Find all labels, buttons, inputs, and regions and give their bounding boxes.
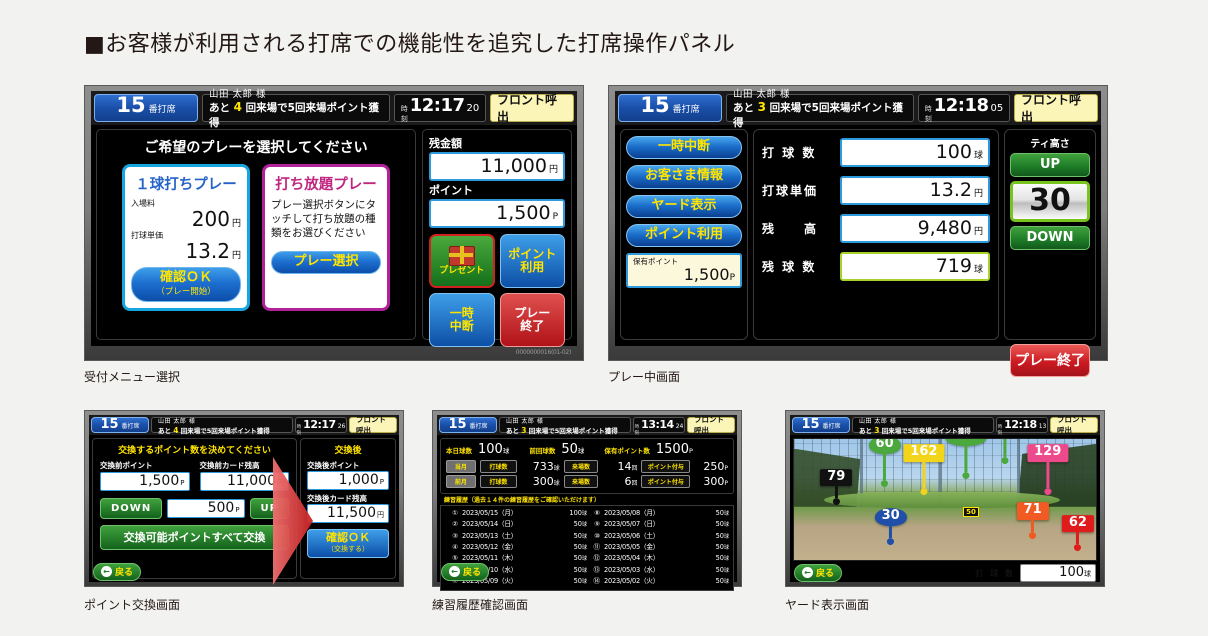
after-point-label: 交換後ポイント <box>307 460 389 471</box>
before-point-label: 交換前ポイント <box>100 460 190 471</box>
item-balls: 50球 <box>557 531 587 542</box>
visits-value-row: 14回 <box>602 460 637 473</box>
before-card-value: 11,000 <box>227 473 276 489</box>
today-balls-value-row: 100球 <box>478 442 509 457</box>
card-a-title: １球打ちプレー <box>131 173 241 194</box>
balls-unit: 球 <box>554 465 560 472</box>
exchange-amount-value: 500 <box>208 500 235 516</box>
stat-value: 100 <box>936 141 972 163</box>
visit-suffix: 回来場で5回来場ポイント獲得 <box>181 427 270 435</box>
customer-info: 山田 太郎 様 あと 3 回来場で5回来場ポイント獲得 <box>852 417 994 433</box>
item-index: ④ <box>445 542 458 553</box>
panel-point-exchange: 15 番打席 山田 太郎 様 あと 4 回来場で5回来場ポイント獲得 時刻 12… <box>84 410 404 587</box>
yard-marker-stem <box>1076 533 1079 545</box>
stat-label: 打 球 数 <box>762 144 840 161</box>
use-points-button[interactable]: ポイント 利用 <box>500 234 566 288</box>
caption-during-play: プレー中画面 <box>608 368 680 385</box>
stat-field: 100球 <box>840 138 990 167</box>
back-button[interactable]: ← 戻る <box>794 564 842 582</box>
customer-name: 山田 太郎 様 <box>209 86 383 100</box>
points-value: 300 <box>703 475 724 488</box>
held-points-value-row: 1500P <box>656 442 693 457</box>
visits-unit: 回 <box>631 480 637 487</box>
entry-fee-unit: 円 <box>232 219 241 229</box>
before-point-unit: P <box>180 479 184 487</box>
header-bar: 15 番打席 山田 太郎 様 あと 3 回来場で5回来場ポイント獲得 時刻 12… <box>615 91 1101 125</box>
shots-unit: 球 <box>1084 570 1091 578</box>
customer-name: 山田 太郎 様 <box>158 416 286 425</box>
shots-field: 100球 <box>1020 564 1096 582</box>
exchange-input-area: 交換するポイント数を決めてください 交換前ポイント 1,500P 交換前カード残… <box>92 438 297 579</box>
points-tag: ポイント付与 <box>641 460 690 473</box>
points-unit: P <box>724 480 728 487</box>
clock-label: 時刻 <box>635 424 640 436</box>
prev-balls-label: 前回球数 <box>529 445 555 455</box>
yard-marker-value: 162 <box>903 444 944 462</box>
exchange-confirm-button[interactable]: 確認ＯＫ （交換する） <box>307 529 389 558</box>
customer-info: 山田 太郎 様 あと 3 回来場で5回来場ポイント獲得 <box>726 94 914 122</box>
screen-during-play: 15 番打席 山田 太郎 様 あと 3 回来場で5回来場ポイント獲得 時刻 12… <box>615 91 1101 346</box>
end-play-label-2: 終了 <box>520 320 544 333</box>
item-index: ③ <box>445 531 458 542</box>
confirm-ok-sub: （プレー開始） <box>132 285 240 297</box>
held-points-unit: P <box>730 273 735 283</box>
stat-label: 残 球 数 <box>762 258 840 275</box>
list-item: ④2023/05/12（金）50球 <box>445 542 587 553</box>
screen-reception-menu: 15 番打席 山田 太郎 様 あと 4 回来場で5回来場ポイント獲得 時刻 12… <box>91 91 577 346</box>
item-balls: 50球 <box>699 542 729 553</box>
customer-name: 山田 太郎 様 <box>506 416 624 425</box>
stat-unit: 円 <box>974 189 983 199</box>
item-date: 2023/05/14（日） <box>458 519 557 530</box>
before-point-cell: 交換前ポイント 1,500P <box>100 460 190 491</box>
yard-marker-value: 71 <box>1017 502 1049 520</box>
balance-field: 11,000円 <box>429 152 565 181</box>
item-date: 2023/05/05（金） <box>600 542 699 553</box>
end-play-button[interactable]: プレー 終了 <box>500 293 566 347</box>
caption-practice-history: 練習履歴確認画面 <box>432 596 528 613</box>
visit-suffix: 回来場で5回来場ポイント獲得 <box>882 427 971 435</box>
footer-bar: ← 戻る <box>437 562 737 582</box>
list-item: ③2023/05/13（土）50球 <box>445 531 587 542</box>
seat-unit: 番打席 <box>122 421 140 430</box>
yard-marker-ball-icon <box>1044 488 1051 495</box>
held-points-value: 1500 <box>656 442 689 457</box>
after-card-field: 11,500円 <box>307 504 389 523</box>
customer-info: 山田 太郎 様 あと 4 回来場で5回来場ポイント獲得 <box>151 417 293 433</box>
tee-up-button[interactable]: UP <box>1010 153 1090 177</box>
held-points-unit: P <box>689 447 693 455</box>
visit-count: 3 <box>521 426 526 435</box>
footer-bar: ← 戻る 打 球 数 100球 <box>790 564 1100 582</box>
panel-practice-history: 15 番打席 山田 太郎 様 あと 3 回来場で5回来場ポイント獲得 時刻 13… <box>432 410 742 587</box>
yard-marker: 162 <box>903 444 944 495</box>
clock-time: 12:18 <box>934 95 989 116</box>
caption-yard-display: ヤード表示画面 <box>785 596 869 613</box>
yard-marker: 60 <box>869 438 901 487</box>
card-b-title: 打ち放題プレー <box>271 173 381 194</box>
header-bar: 15 番打席 山田 太郎 様 あと 3 回来場で5回来場ポイント獲得 時刻 13… <box>437 415 737 435</box>
balls-value-row: 300球 <box>521 475 559 488</box>
yard-marker-ball-icon <box>833 499 840 506</box>
list-item: ⑩2023/05/06（土）50球 <box>587 531 729 542</box>
ball-price-value: 13.2 <box>185 239 230 263</box>
balance-side-panel: 残金額 11,000円 ポイント 1,500P プレゼント ポイント 利用 <box>422 129 572 340</box>
yard-marker: 30 <box>875 509 907 546</box>
seat-number: 15 <box>100 418 118 431</box>
visit-count: 3 <box>874 426 879 435</box>
balls-value: 300 <box>533 475 554 488</box>
menu-item-use-points[interactable]: ポイント利用 <box>626 224 742 247</box>
yard-marker-ball-icon <box>887 538 894 545</box>
list-item: ①2023/05/15（月）100球 <box>445 508 587 519</box>
menu-column: 一時中断 お客さま情報 ヤード表示 ポイント利用 保有ポイント 1,500P <box>620 129 748 340</box>
yard-marker: 163 <box>946 438 987 479</box>
item-date: 2023/05/12（金） <box>458 542 557 553</box>
exchange-title: 交換するポイント数を決めてください <box>100 443 289 456</box>
tee-down-button[interactable]: DOWN <box>1010 226 1090 250</box>
menu-item-yard-display[interactable]: ヤード表示 <box>626 195 742 218</box>
ball-price-unit: 円 <box>232 251 241 261</box>
stat-field: 13.2円 <box>840 176 990 205</box>
balls-tag: 打球数 <box>480 460 518 473</box>
item-balls: 50球 <box>699 519 729 530</box>
clock-label: 時刻 <box>998 424 1003 436</box>
visit-prefix: あと <box>506 427 519 435</box>
screen-point-exchange: 15 番打席 山田 太郎 様 あと 4 回来場で5回来場ポイント獲得 時刻 12… <box>89 415 399 582</box>
yard-marker-value: 79 <box>820 469 852 487</box>
stat-field: 719球 <box>840 252 990 281</box>
after-point-value: 1,000 <box>339 472 379 488</box>
caption-point-exchange: ポイント交換画面 <box>84 596 180 613</box>
item-index: ⑧ <box>587 508 600 519</box>
back-arrow-icon: ← <box>101 566 112 577</box>
clock-seconds: 05 <box>991 103 1004 114</box>
exchange-amount-unit: P <box>235 506 239 514</box>
pause-button[interactable]: 一時 中断 <box>429 293 495 347</box>
visit-message: あと 3 回来場で5回来場ポイント獲得 <box>859 425 987 435</box>
visit-prefix: あと <box>733 102 754 114</box>
month-tag: 前月 <box>446 475 476 488</box>
history-month-row: 前月 打球数 300球 来場数 6回 ポイント付与 300P <box>446 475 728 488</box>
point-unit: P <box>553 212 558 222</box>
yard-marker-stem <box>965 446 968 472</box>
clock-seconds: 24 <box>676 423 684 430</box>
exchange-all-button[interactable]: 交換可能ポイントすべて交換 <box>100 525 289 550</box>
yard-marker-ball-icon <box>1002 457 1009 464</box>
points-value: 250 <box>703 460 724 473</box>
entry-fee-amount: 200円 <box>131 209 241 230</box>
tee-height-label: ティ高さ <box>1010 135 1090 150</box>
exchange-down-button[interactable]: DOWN <box>100 498 162 519</box>
item-balls: 50球 <box>699 508 729 519</box>
confirm-ok-label: 確認ＯＫ <box>132 271 240 285</box>
stat-unit: 球 <box>974 265 983 275</box>
yard-marker-value: 163 <box>946 438 987 446</box>
back-label: 戻る <box>816 566 834 579</box>
confirm-ok-button[interactable]: 確認ＯＫ （プレー開始） <box>131 267 241 302</box>
visits-tag: 来場数 <box>564 475 598 488</box>
visit-prefix: あと <box>158 427 171 435</box>
choose-play-title: ご希望のプレーを選択してください <box>105 137 407 157</box>
stat-label: 打球単価 <box>762 182 840 199</box>
seat-number-badge: 15 番打席 <box>91 417 149 433</box>
gift-icon <box>449 246 475 266</box>
item-date: 2023/05/08（月） <box>600 508 699 519</box>
visits-tag: 来場数 <box>564 460 598 473</box>
header-bar: 15 番打席 山田 太郎 様 あと 3 回来場で5回来場ポイント獲得 時刻 12… <box>790 415 1100 435</box>
seat-unit: 番打席 <box>470 421 488 430</box>
visit-prefix: あと <box>209 102 230 114</box>
history-month-row: 当月 打球数 733球 来場数 14回 ポイント付与 250P <box>446 460 728 473</box>
item-index: ⑩ <box>587 531 600 542</box>
tee-height-value: 30 <box>1010 181 1090 222</box>
driving-range-view[interactable]: 50 7960162163211129307162 <box>793 438 1097 561</box>
back-button[interactable]: ← 戻る <box>441 563 489 581</box>
back-label: 戻る <box>115 565 133 578</box>
points-value-row: 250P <box>694 460 728 473</box>
pause-label-2: 中断 <box>450 320 474 333</box>
play-selection-area: ご希望のプレーを選択してください １球打ちプレー 入場料 200円 打球単価 1… <box>96 129 416 340</box>
visit-count: 4 <box>173 426 178 435</box>
held-points-value-row: 1,500P <box>633 267 735 284</box>
present-button[interactable]: プレゼント <box>429 234 495 288</box>
clock-seconds: 20 <box>467 103 480 114</box>
front-call-button[interactable]: フロント呼出 <box>687 417 735 433</box>
balance-label: 残金額 <box>429 135 565 151</box>
entry-fee-value: 200 <box>192 207 230 231</box>
history-summary: 本日球数 100球 前回球数 50球 保有ポイント数 1500P 当月 打球数 … <box>440 438 734 494</box>
yard-marker-value: 62 <box>1062 515 1094 533</box>
visit-message: あと 4 回来場で5回来場ポイント獲得 <box>158 425 286 435</box>
yard-marker-ball-icon <box>1074 545 1081 552</box>
visits-unit: 回 <box>631 465 637 472</box>
list-item: ⑧2023/05/08（月）50球 <box>587 508 729 519</box>
front-call-button[interactable]: フロント呼出 <box>1050 417 1098 433</box>
front-call-button[interactable]: フロント呼出 <box>490 94 574 122</box>
seat-unit: 番打席 <box>149 102 176 115</box>
prev-balls-value-row: 50球 <box>561 442 584 457</box>
balance-unit: 円 <box>549 165 558 175</box>
item-balls: 50球 <box>699 531 729 542</box>
clock-time: 12:18 <box>1004 418 1037 431</box>
stat-unit: 円 <box>974 227 983 237</box>
after-point-field: 1,000P <box>307 471 389 490</box>
present-label: プレゼント <box>439 267 484 277</box>
yard-marker-stem <box>1046 462 1049 488</box>
yard-marker-stem <box>883 454 886 480</box>
item-date: 2023/05/07（日） <box>600 519 699 530</box>
back-arrow-icon: ← <box>802 567 813 578</box>
held-points-label: 保有ポイント数 <box>604 445 650 455</box>
today-balls-unit: 球 <box>503 447 510 455</box>
seat-number: 15 <box>116 95 145 116</box>
panel-yard-display: 15 番打席 山田 太郎 様 あと 3 回来場で5回来場ポイント獲得 時刻 12… <box>785 410 1105 587</box>
item-balls: 50球 <box>557 542 587 553</box>
held-points-box: 保有ポイント 1,500P <box>626 253 742 288</box>
customer-name: 山田 太郎 様 <box>859 416 987 425</box>
yard-marker-stem <box>889 526 892 538</box>
menu-item-customer-info[interactable]: お客さま情報 <box>626 165 742 188</box>
clock-label: 時刻 <box>401 104 408 124</box>
shots-label: 打 球 数 <box>975 568 1015 579</box>
yard-marker-ball-icon <box>963 472 970 479</box>
clock-seconds: 13 <box>1039 423 1047 430</box>
clock: 時刻 12:17 20 <box>394 94 486 122</box>
menu-item-pause[interactable]: 一時中断 <box>626 136 742 159</box>
clock: 時刻 12:18 05 <box>918 94 1010 122</box>
visit-prefix: あと <box>859 427 872 435</box>
seat-number: 15 <box>448 418 466 431</box>
visit-count: 3 <box>758 100 766 114</box>
item-balls: 100球 <box>557 508 587 519</box>
screen-practice-history: 15 番打席 山田 太郎 様 あと 3 回来場で5回来場ポイント獲得 時刻 13… <box>437 415 737 582</box>
customer-info: 山田 太郎 様 あと 4 回来場で5回来場ポイント獲得 <box>202 94 390 122</box>
clock-time: 12:17 <box>303 418 336 431</box>
exchange-amount-field[interactable]: 500P <box>167 499 244 518</box>
held-points-value: 1,500 <box>684 265 730 284</box>
seat-number-badge: 15 番打席 <box>439 417 497 433</box>
item-index: ⑨ <box>587 519 600 530</box>
today-balls-value: 100 <box>478 442 503 457</box>
after-card-value: 11,500 <box>327 505 376 521</box>
yard-marker-ball-icon <box>1029 532 1036 539</box>
visit-count: 4 <box>234 100 242 114</box>
footer-bar: ← 戻る <box>89 562 399 582</box>
before-point-value: 1,500 <box>139 473 179 489</box>
clock: 時刻 12:17 26 <box>295 417 347 433</box>
prev-balls-value: 50 <box>561 442 578 457</box>
card-single-ball-play[interactable]: １球打ちプレー 入場料 200円 打球単価 13.2円 確認ＯＫ （プレー開始） <box>122 164 250 311</box>
front-call-button[interactable]: フロント呼出 <box>1014 94 1098 122</box>
balls-value: 733 <box>533 460 554 473</box>
clock: 時刻 13:14 24 <box>633 417 685 433</box>
page-title: ■お客様が利用される打席での機能性を追究した打席操作パネル <box>84 26 735 58</box>
balls-tag: 打球数 <box>480 475 518 488</box>
exchange-result-title: 交換後 <box>307 443 389 456</box>
header-bar: 15 番打席 山田 太郎 様 あと 4 回来場で5回来場ポイント獲得 時刻 12… <box>91 91 577 125</box>
yard-marker: 129 <box>1027 444 1068 495</box>
points-value-row: 300P <box>694 475 728 488</box>
balls-value-row: 733球 <box>521 460 559 473</box>
history-note: 練習履歴（過去１４件の練習履歴をご確認いただけます） <box>440 494 734 505</box>
point-value: 1,500 <box>496 202 550 224</box>
yard-marker-ball-icon <box>920 488 927 495</box>
end-play-button[interactable]: プレー終了 <box>1010 344 1090 377</box>
tee-height-column: ティ高さ UP 30 DOWN プレー終了 <box>1004 129 1096 340</box>
stats-column: 打 球 数 100球 打球単価 13.2円 残 高 9,480円 残 球 数 7… <box>753 129 999 340</box>
back-button[interactable]: ← 戻る <box>93 563 141 581</box>
clock-time: 13:14 <box>641 418 674 431</box>
after-point-unit: P <box>380 478 384 486</box>
play-select-label: プレー選択 <box>272 255 380 269</box>
yard-marker-value: 129 <box>1027 444 1068 462</box>
item-index: ② <box>445 519 458 530</box>
visit-message: あと 3 回来場で5回来場ポイント獲得 <box>506 425 624 435</box>
month-tag: 当月 <box>446 460 476 473</box>
yard-marker: 62 <box>1062 515 1094 552</box>
stat-value: 9,480 <box>918 217 972 239</box>
clock-label: 時刻 <box>925 104 932 124</box>
device-code: 0000000016(01-02) <box>516 349 571 356</box>
visit-message: あと 4 回来場で5回来場ポイント獲得 <box>209 100 383 130</box>
customer-info: 山田 太郎 様 あと 3 回来場で5回来場ポイント獲得 <box>499 417 631 433</box>
seat-unit: 番打席 <box>673 102 700 115</box>
yard-marker: 79 <box>820 469 852 506</box>
back-arrow-icon: ← <box>449 566 460 577</box>
point-field: 1,500P <box>429 199 565 228</box>
seat-number: 15 <box>801 418 819 431</box>
points-unit: P <box>724 465 728 472</box>
item-date: 2023/05/15（月） <box>458 508 557 519</box>
today-balls-label: 本日球数 <box>446 445 472 455</box>
point-label: ポイント <box>429 182 565 198</box>
stat-unit: 球 <box>974 151 983 161</box>
yard-marker-stem <box>835 487 838 499</box>
balls-unit: 球 <box>554 480 560 487</box>
clock-time: 12:17 <box>410 95 465 116</box>
front-call-button[interactable]: フロント呼出 <box>349 417 397 433</box>
yard-marker: 71 <box>1017 502 1049 539</box>
stat-value: 13.2 <box>930 179 972 201</box>
yard-marker-value: 60 <box>869 438 901 454</box>
list-item: ⑪2023/05/05（金）50球 <box>587 542 729 553</box>
seat-number-badge: 15 番打席 <box>792 417 850 433</box>
visit-suffix: 回来場で5回来場ポイント獲得 <box>529 427 618 435</box>
balance-value: 11,000 <box>481 155 547 177</box>
use-points-label-2: 利用 <box>520 261 544 274</box>
exchange-result-area: 交換後 交換後ポイント 1,000P 交換後カード残高 11,500円 確認ＯＫ… <box>300 438 396 579</box>
stat-row: 打 球 数 100球 <box>762 138 990 167</box>
clock: 時刻 12:18 13 <box>996 417 1048 433</box>
visits-value: 14 <box>617 460 631 473</box>
list-item: ②2023/05/14（日）50球 <box>445 519 587 530</box>
stat-row: 残 高 9,480円 <box>762 214 990 243</box>
after-card-unit: 円 <box>377 511 384 519</box>
yard-marker-ball-icon <box>881 480 888 487</box>
shots-value: 100 <box>1059 565 1084 580</box>
after-card-label: 交換後カード残高 <box>307 493 389 504</box>
panel-during-play: 15 番打席 山田 太郎 様 あと 3 回来場で5回来場ポイント獲得 時刻 12… <box>608 85 1108 361</box>
prev-balls-unit: 球 <box>578 447 585 455</box>
ball-price-amount: 13.2円 <box>131 241 241 262</box>
caption-reception-menu: 受付メニュー選択 <box>84 368 180 385</box>
customer-name: 山田 太郎 様 <box>733 86 907 100</box>
item-date: 2023/05/13（土） <box>458 531 557 542</box>
card-b-description: プレー選択ボタンにタッチして打ち放題の種類をお選びください <box>271 198 381 241</box>
seat-number-badge: 15 番打席 <box>618 94 722 122</box>
item-date: 2023/05/06（土） <box>600 531 699 542</box>
stat-value: 719 <box>936 255 972 277</box>
play-select-button[interactable]: プレー選択 <box>271 251 381 274</box>
yard-marker-stem <box>1031 520 1034 532</box>
stat-field: 9,480円 <box>840 214 990 243</box>
visit-message: あと 3 回来場で5回来場ポイント獲得 <box>733 100 907 130</box>
visits-value-row: 6回 <box>602 475 637 488</box>
header-bar: 15 番打席 山田 太郎 様 あと 4 回来場で5回来場ポイント獲得 時刻 12… <box>89 415 399 435</box>
back-label: 戻る <box>463 565 481 578</box>
panel-reception-menu: 15 番打席 山田 太郎 様 あと 4 回来場で5回来場ポイント獲得 時刻 12… <box>84 85 584 361</box>
yard-marker-value: 30 <box>875 509 907 527</box>
item-index: ① <box>445 508 458 519</box>
stat-label: 残 高 <box>762 220 840 237</box>
points-tag: ポイント付与 <box>641 475 690 488</box>
green-distance-label: 50 <box>963 507 979 517</box>
screen-yard-display: 15 番打席 山田 太郎 様 あと 3 回来場で5回来場ポイント獲得 時刻 12… <box>790 415 1100 582</box>
item-index: ⑪ <box>587 542 600 553</box>
card-unlimited-play[interactable]: 打ち放題プレー プレー選択ボタンにタッチして打ち放題の種類をお選びください プレ… <box>262 164 390 311</box>
stat-row: 打球単価 13.2円 <box>762 176 990 205</box>
